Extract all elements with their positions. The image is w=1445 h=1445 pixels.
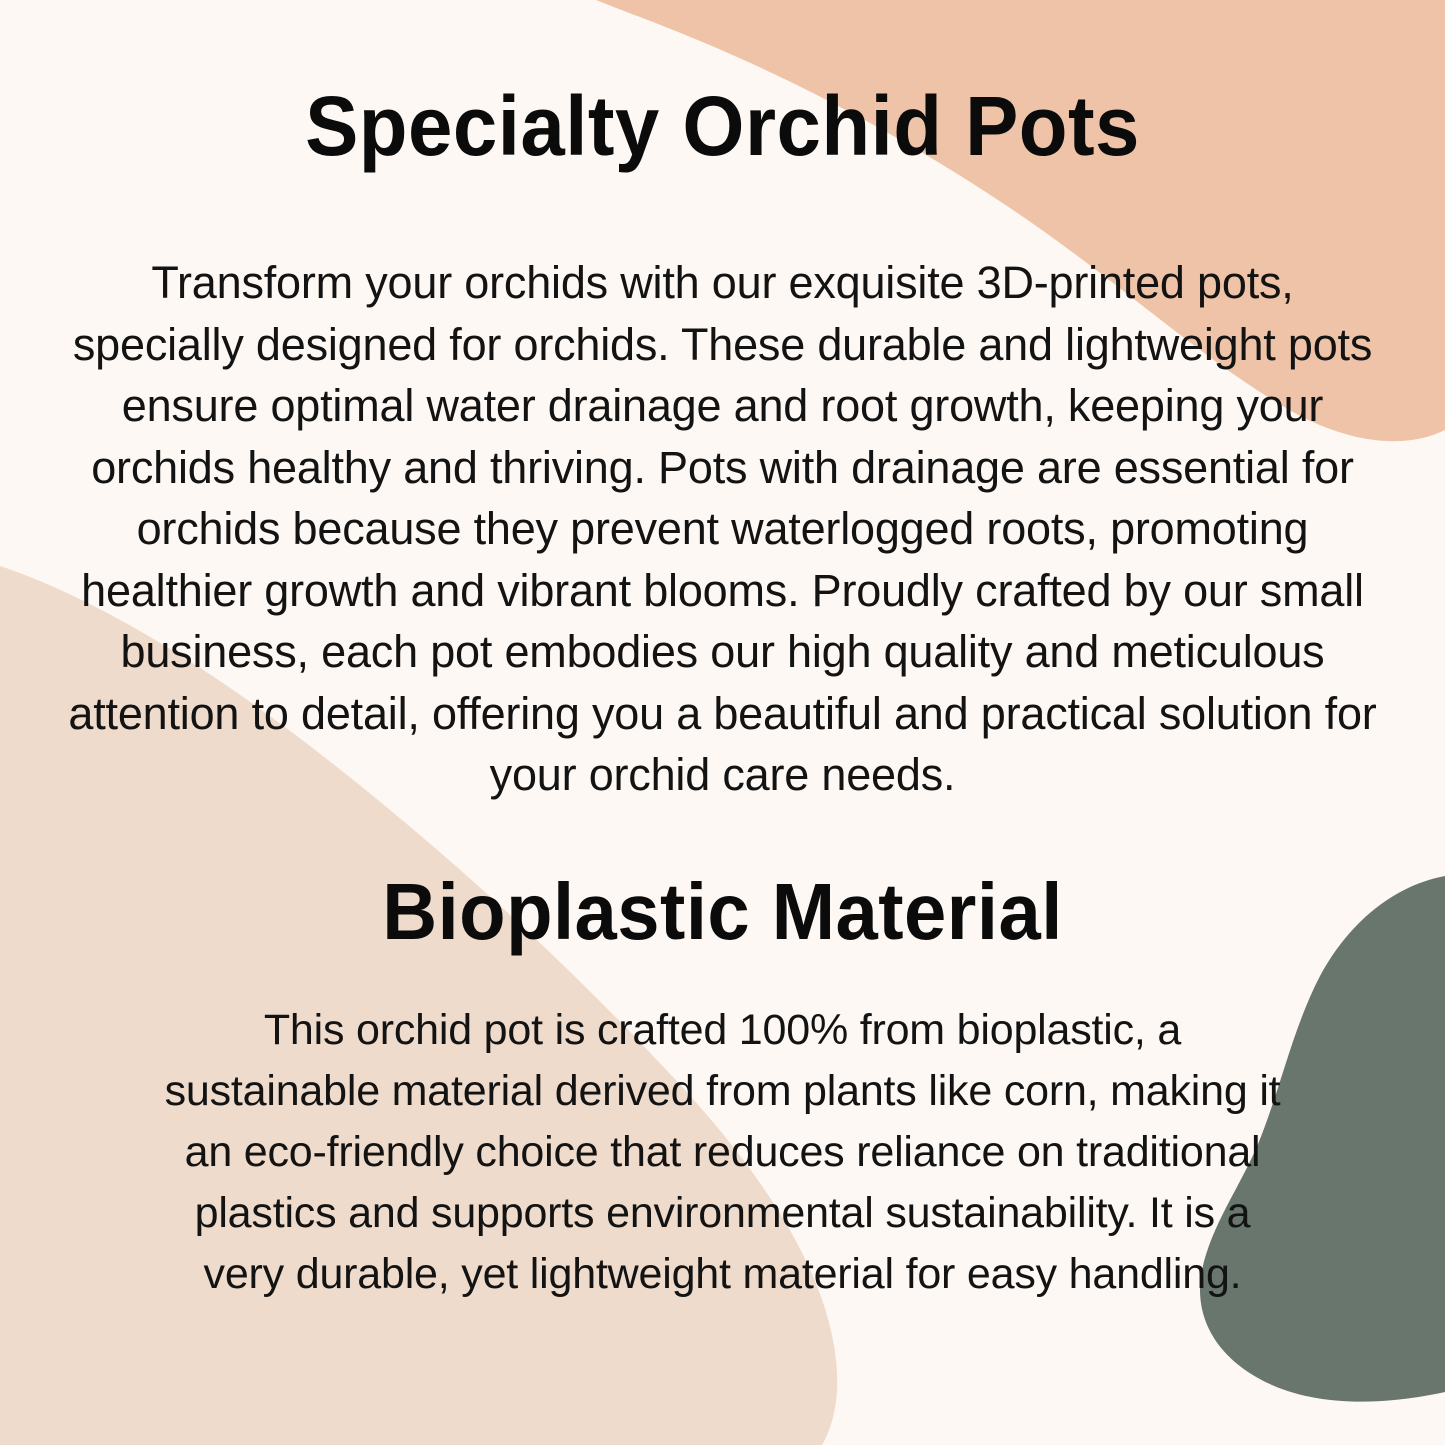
page-title: Specialty Orchid Pots (36, 78, 1409, 174)
product-description-card: Specialty Orchid Pots Transform your orc… (0, 0, 1445, 1445)
card-content: Specialty Orchid Pots Transform your orc… (0, 0, 1445, 1445)
section-title-bioplastic-material: Bioplastic Material (36, 866, 1409, 958)
intro-paragraph: Transform your orchids with our exquisit… (62, 252, 1383, 806)
material-paragraph: This orchid pot is crafted 100% from bio… (152, 1000, 1293, 1305)
